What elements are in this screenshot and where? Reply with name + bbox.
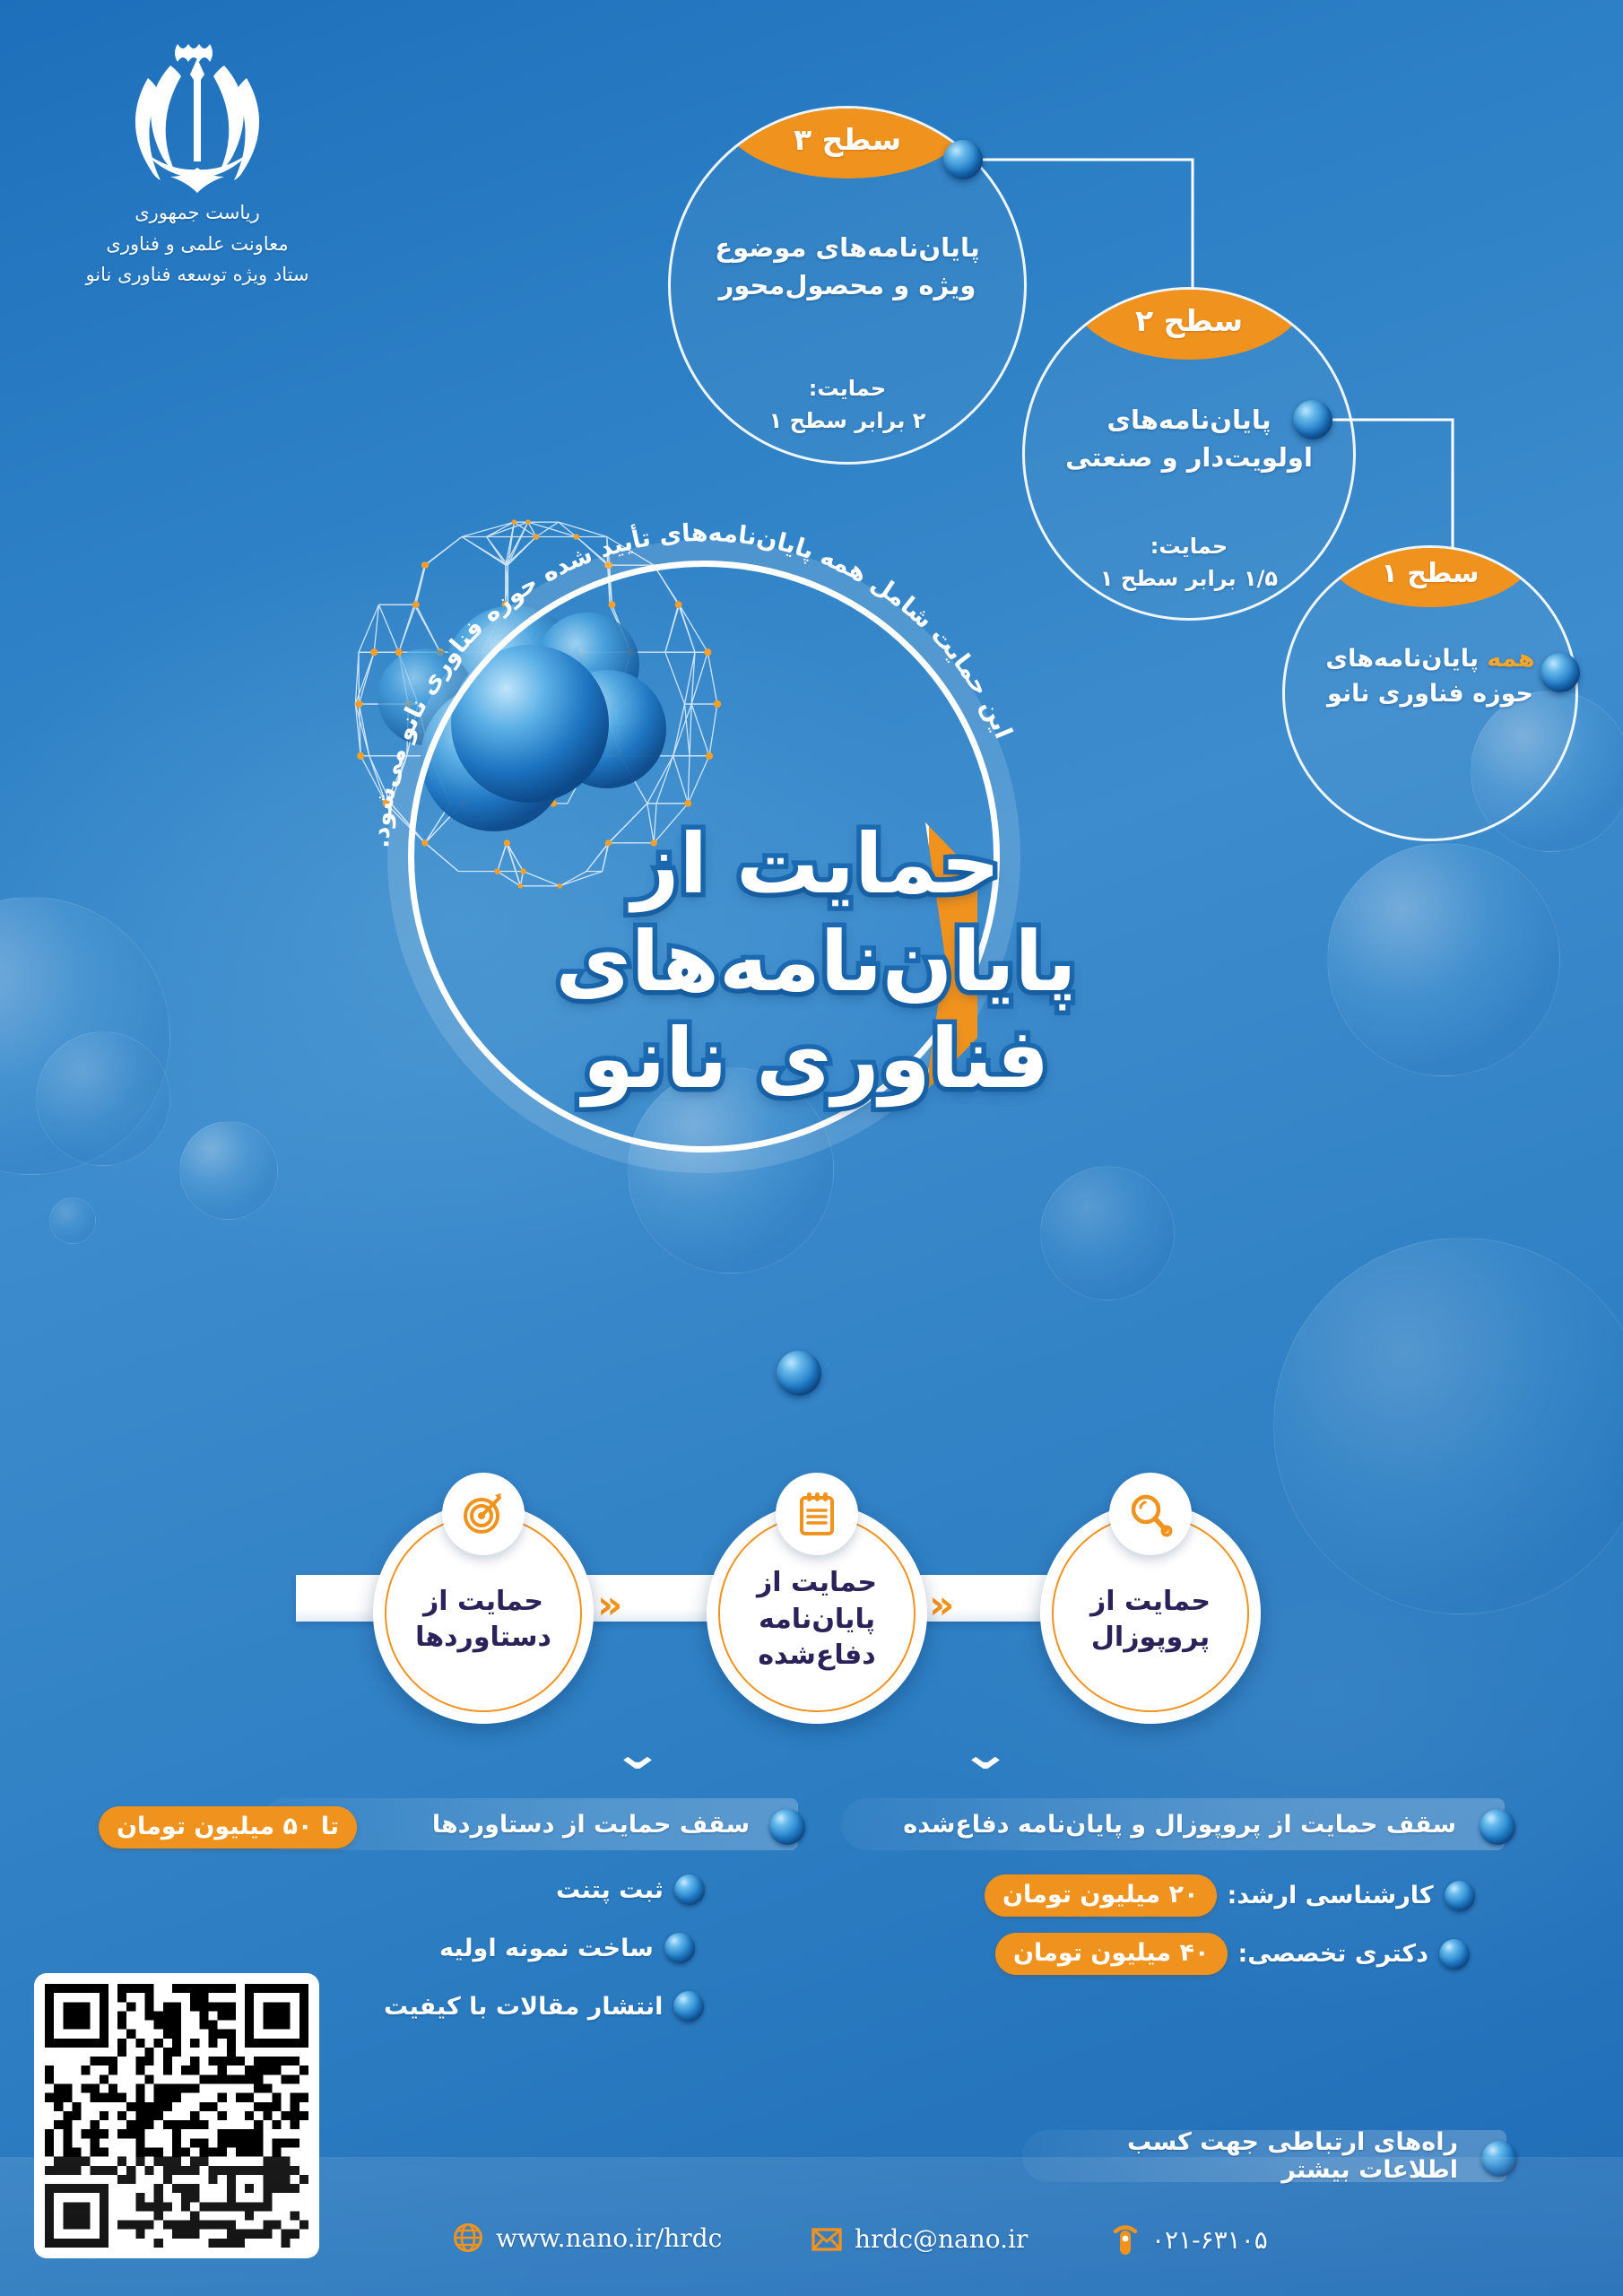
decor-bubble [179,1121,278,1220]
decor-bubble [1327,843,1560,1076]
bullet-marble-icon [673,1991,704,2022]
support-right-heading: سقف حمایت از پروپوزال و پایان‌نامه دفاع‌… [903,1811,1456,1839]
support-left-heading: سقف حمایت از دستاوردها [432,1811,750,1839]
process-step-defended[interactable]: حمایت از پایان‌نامه دفاع‌شده [707,1503,927,1724]
level-3-badge: سطح ۳ [716,107,978,178]
level-2-body: پایان‌نامه‌های اولویت‌دار و صنعتی [1045,401,1333,476]
bullet-marble-icon [1445,1881,1475,1911]
contact-phone[interactable]: ۰۲۱-۶۳۱۰۵ [1112,2222,1268,2257]
level-2-support: حمایت: ۱/۵ برابر سطح ۱ [1025,530,1353,595]
level-2-support-value: ۱/۵ برابر سطح ۱ [1025,562,1353,595]
level-circle-1: سطح ۱ همه پایان‌نامه‌های حوزه فناوری نان… [1282,545,1578,841]
process-flow-row: « « حمایت از پروپوزال [296,1426,1336,1722]
process-step-proposal[interactable]: حمایت از پروپوزال [1040,1503,1261,1724]
level-1-highlight: همه [1487,645,1534,673]
globe-icon [453,2222,483,2253]
poster-canvas: ریاست جمهوری معاونت علمی و فناوری ستاد و… [0,0,1623,2296]
support-left-item-1: ساخت نمونه اولیه [439,1933,695,1963]
phone-icon [1112,2222,1139,2257]
heading-marble-icon [769,1809,805,1845]
chevron-down-icon: ⌄ [959,1731,1012,1776]
bullet-marble-icon [1439,1939,1470,1970]
support-right-amount-1: ۴۰ میلیون تومان [995,1933,1228,1975]
bullet-marble-icon [674,1874,705,1905]
process-label-defended: حمایت از پایان‌نامه دفاع‌شده [707,1565,927,1674]
support-right-row-0: کارشناسی ارشد: ۲۰ میلیون تومان [985,1874,1475,1917]
level-3-node-ball [943,140,983,179]
support-right-heading-bar: سقف حمایت از پروپوزال و پایان‌نامه دفاع‌… [841,1798,1505,1850]
title-line-2: پایان‌نامه‌های [502,914,1130,1012]
title-line-3: فناوری نانو [502,1011,1130,1109]
magnifier-icon [1109,1473,1192,1555]
level-1-badge: سطح ۱ [1323,546,1538,607]
envelope-icon [811,2227,842,2252]
bullet-marble-icon [664,1933,695,1963]
level-1-body: همه پایان‌نامه‌های حوزه فناوری نانو [1302,641,1558,711]
decor-bubble [1040,1166,1175,1300]
contact-phone-value: ۰۲۱-۶۳۱۰۵ [1151,2225,1268,2255]
support-left-item-2: انتشار مقالات با کیفیت [384,1991,704,2022]
chevron-left-icon: « [597,1586,622,1625]
level-2-badge: سطح ۲ [1068,288,1311,360]
support-right-row-1: دکتری تخصصی: ۴۰ میلیون تومان [995,1933,1470,1975]
chevron-down-icon: ⌄ [612,1731,664,1776]
level-1-node-ball [1541,653,1580,692]
support-left-item-label-1: ساخت نمونه اولیه [439,1935,654,1962]
svg-text:این حمایت شامل همه پایان‌نامه‌: این حمایت شامل همه پایان‌نامه‌های تأیید … [367,519,1017,848]
level-3-support: حمایت: ۲ برابر سطح ۱ [671,372,1024,437]
notepad-icon [776,1473,858,1555]
ring-bottom-node-ball [777,1351,821,1396]
contact-email[interactable]: hrdc@nano.ir [811,2224,1028,2254]
decor-bubble [49,1197,96,1244]
title-line-1: حمایت از [502,816,1130,914]
contact-email-value: hrdc@nano.ir [855,2224,1028,2254]
target-dart-icon [442,1473,525,1555]
level-circle-2: سطح ۲ پایان‌نامه‌های اولویت‌دار و صنعتی … [1022,287,1356,621]
support-left-cap-pill: تا ۵۰ میلیون تومان [99,1806,357,1848]
level-3-support-label: حمایت: [671,372,1024,404]
level-2-support-label: حمایت: [1025,530,1353,562]
decor-bubble [36,1031,170,1166]
support-right-amount-0: ۲۰ میلیون تومان [985,1874,1217,1917]
process-label-outcomes: حمایت از دستاوردها [373,1584,594,1657]
process-label-proposal: حمایت از پروپوزال [1040,1584,1261,1657]
contact-website[interactable]: www.nano.ir/hrdc [453,2222,722,2253]
level-3-support-value: ۲ برابر سطح ۱ [671,404,1024,437]
support-right-label-0: کارشناسی ارشد: [1228,1882,1434,1909]
contact-website-value: www.nano.ir/hrdc [496,2223,722,2253]
decor-bubble [0,897,170,1175]
level-2-node-ball [1293,400,1332,439]
support-right-label-1: دکتری تخصصی: [1238,1940,1428,1968]
heading-marble-icon [1480,1809,1515,1845]
level-3-body: پایان‌نامه‌های موضوع ویژه و محصول‌محور [692,229,1003,304]
chevron-left-icon: « [929,1586,954,1625]
support-left-item-0: ثبت پتنت [556,1874,705,1905]
page-title: حمایت از پایان‌نامه‌های فناوری نانو [502,816,1130,1109]
support-left-item-label-0: ثبت پتنت [556,1876,664,1904]
support-left-item-label-2: انتشار مقالات با کیفیت [384,1993,663,2021]
process-step-outcomes[interactable]: حمایت از دستاوردها [373,1503,594,1724]
